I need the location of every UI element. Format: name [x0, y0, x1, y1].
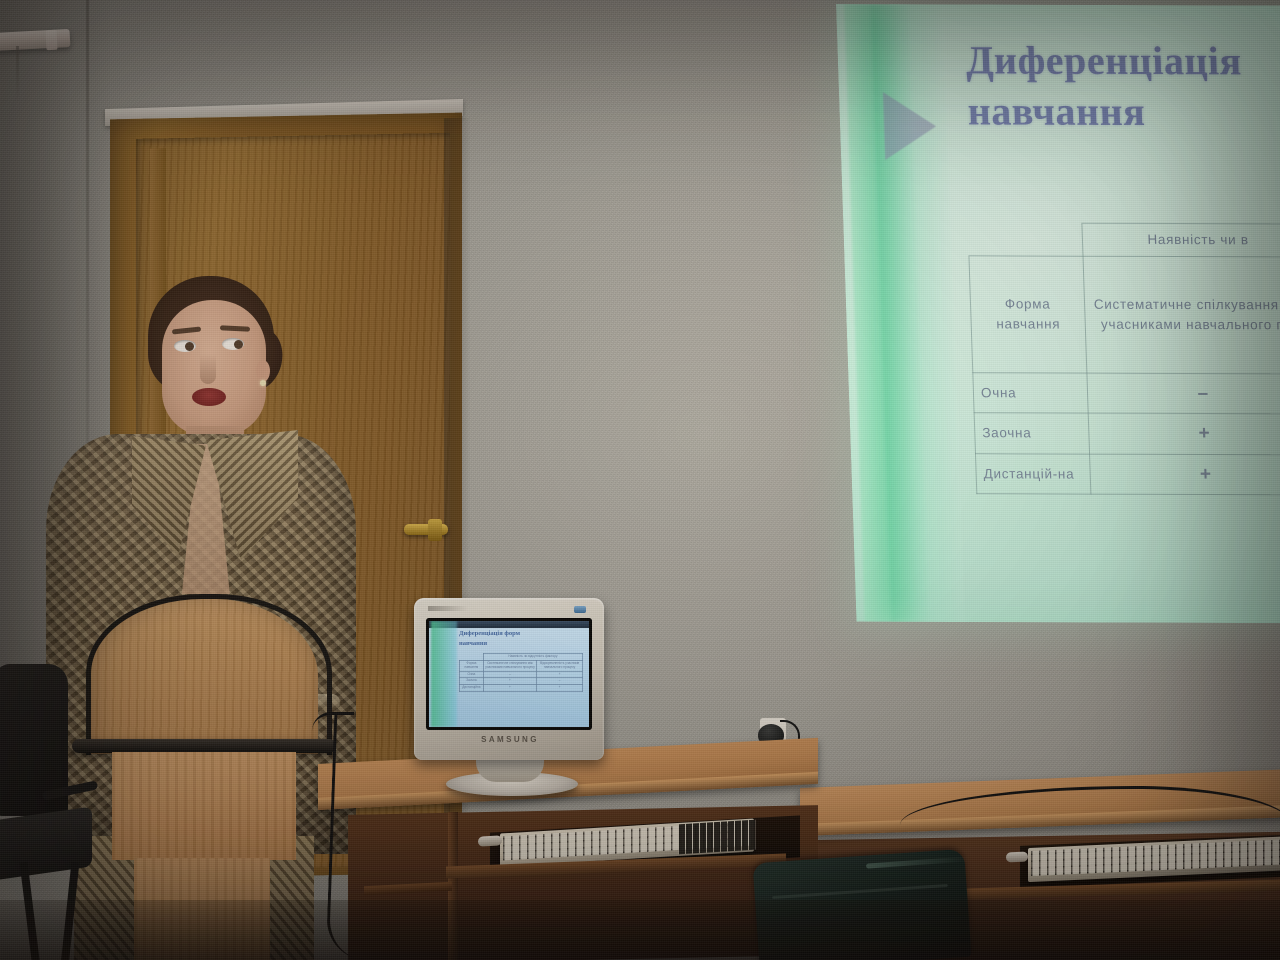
tray-knob-left[interactable] — [478, 835, 502, 846]
earring — [260, 380, 266, 386]
screen-slide-title-line2: навчання — [459, 639, 585, 649]
screen-table-subheader-row: Форма навчання Систематичне спілкування … — [460, 660, 583, 671]
iris-right — [234, 340, 243, 349]
crt-monitor[interactable]: Диференціація форм навчання Наявність чи… — [414, 598, 628, 796]
photo-scene: Диференціація навчання Наявність чи в Фо… — [0, 0, 1280, 960]
screen-table-row: Очна – + — [460, 671, 583, 678]
eye-left — [174, 340, 196, 352]
screen-slide-title: Диференціація форм навчання — [459, 629, 585, 649]
screen-row-c2: + — [537, 671, 583, 678]
table-col-form: Форма навчання — [969, 255, 1087, 372]
table-row: Дистанцій-на + — [975, 453, 1280, 495]
tray-knob-right[interactable] — [1006, 852, 1028, 863]
slide-table: Наявність чи в Форма навчання Систематич… — [967, 222, 1280, 495]
slide-title-line2: навчання — [967, 86, 1280, 138]
screen-slide-table: Наявність чи відсутність фактору Форма н… — [459, 653, 583, 692]
screen-table-group-header: Наявність чи відсутність фактору — [483, 654, 582, 661]
pipe-band — [45, 30, 57, 51]
table-header-row: Наявність чи в — [968, 223, 1280, 257]
monitor-bezel: Диференціація форм навчання Наявність чи… — [426, 618, 592, 730]
row-label-dystantsiyna: Дистанцій-на — [975, 453, 1091, 494]
lectern-arch-trim — [86, 594, 332, 755]
lectern-body — [112, 752, 296, 860]
projected-slide: Диференціація навчання Наявність чи в Фо… — [836, 4, 1280, 623]
monitor-brand: SAMSUNG — [472, 735, 548, 744]
screen-row-label: Дистанційна — [460, 685, 484, 692]
screen-slide-band — [431, 621, 457, 727]
screen-table-row: Заочна + – — [460, 678, 583, 685]
door-handle-base — [428, 519, 442, 541]
screen-row-label: Заочна — [460, 678, 484, 685]
mouth — [192, 388, 226, 406]
slide-title: Диференціація навчання — [965, 34, 1280, 138]
slide-title-line1: Диференціація — [965, 34, 1280, 86]
screen-slide-title-line1: Диференціація форм — [459, 629, 585, 639]
triangle-bullet-icon — [883, 92, 937, 160]
pipe-drop-line — [16, 46, 19, 104]
screen-table-header-row: Наявність чи відсутність фактору — [460, 654, 583, 661]
screen-col-form: Форма навчання — [460, 660, 484, 671]
row-label-zaochna: Заочна — [974, 413, 1090, 454]
screen-row-c1: – — [483, 671, 536, 678]
table-group-header: Наявність чи в — [1082, 223, 1280, 256]
screen-col-1: Систематичне спілкування між учасниками … — [483, 660, 536, 671]
ear — [256, 360, 270, 382]
row-value-dystantsiyna: + — [1090, 454, 1280, 495]
table-row: Заочна + — [974, 413, 1280, 455]
foreground-shadow — [0, 900, 1280, 960]
iris-left — [185, 342, 194, 351]
screen-col-2: Відокремленість учасників навчального пр… — [537, 660, 583, 671]
row-value-ochna: – — [1087, 373, 1280, 414]
screen-row-c2: + — [537, 685, 583, 692]
nose — [200, 354, 216, 384]
table-row: Очна – — [973, 372, 1280, 414]
screen-row-c1: + — [483, 678, 536, 685]
lectern-rail — [72, 739, 336, 753]
screen-table-row: Дистанційна + + — [460, 685, 583, 692]
monitor-power-led[interactable] — [574, 606, 586, 613]
eye-right — [222, 338, 244, 350]
monitor-screen: Диференціація форм навчання Наявність чи… — [429, 621, 589, 727]
row-label-ochna: Очна — [973, 372, 1089, 413]
screen-row-c2: – — [537, 678, 583, 685]
monitor-model-label — [428, 606, 468, 611]
monitor-case: Диференціація форм навчання Наявність чи… — [414, 598, 604, 760]
table-subheader-row: Форма навчання Систематичне спілкування … — [969, 255, 1280, 373]
row-value-zaochna: + — [1088, 413, 1280, 454]
screen-row-label: Очна — [460, 671, 484, 678]
table-col-systematic: Систематичне спілкування між учасниками … — [1083, 256, 1280, 374]
keyboard-left-numpad[interactable] — [678, 820, 756, 855]
screen-row-c1: + — [483, 685, 536, 692]
